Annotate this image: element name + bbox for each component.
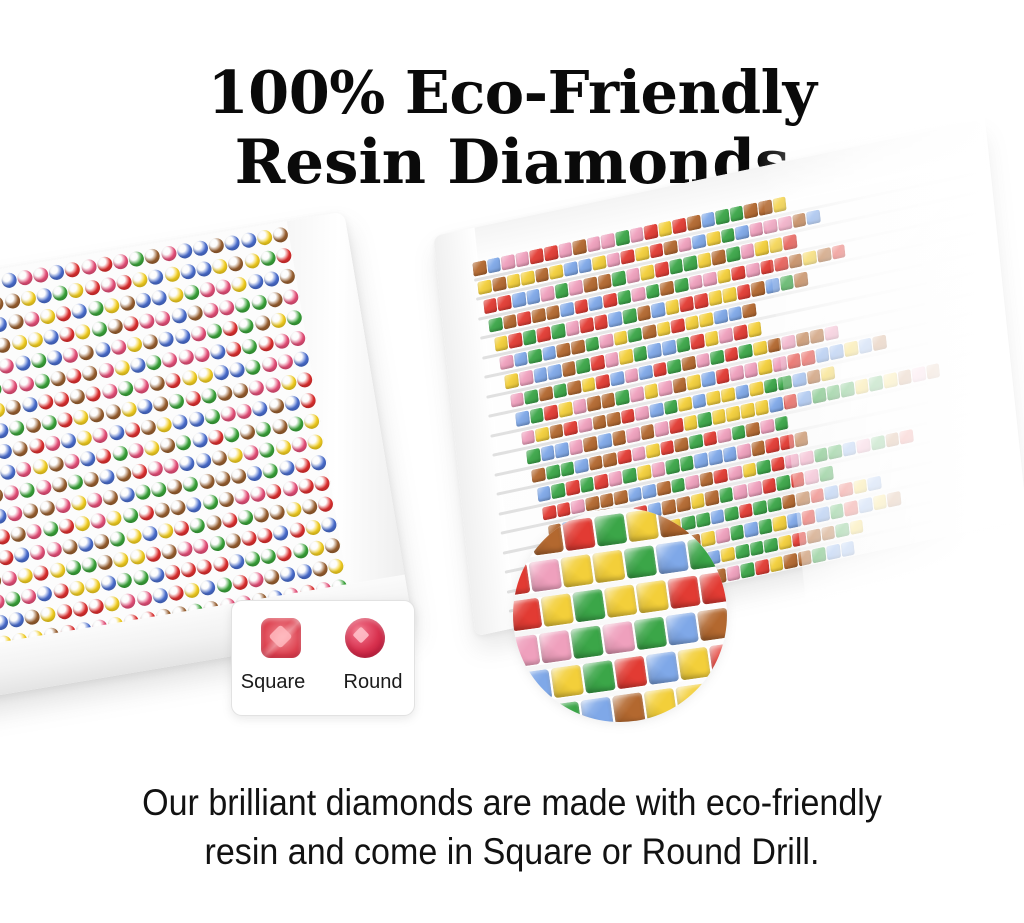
round-bead [239,423,256,440]
square-drill [779,434,794,450]
square-drill [540,445,555,461]
square-drill [570,339,585,355]
round-bead [274,439,291,456]
round-bead [255,421,272,438]
round-bead [241,338,258,355]
square-drill [683,255,698,271]
round-bead [164,564,181,581]
square-drill [569,279,584,295]
round-bead [19,482,36,499]
round-bead [289,330,306,347]
round-bead [101,383,118,400]
square-drill [565,479,580,495]
round-bead [60,432,77,449]
square-drill [645,283,660,299]
square-drill [635,405,650,421]
round-bead [84,577,101,594]
square-drill [612,430,627,446]
round-bead [188,220,205,236]
square-drill [608,470,623,486]
round-bead [159,437,176,454]
round-bead [200,387,217,404]
square-drill [681,355,696,371]
square-drill [762,478,777,494]
square-drill [772,356,787,372]
round-bead [144,248,161,265]
square-drill [755,559,770,575]
square-drill [803,250,818,266]
round-bead [142,333,159,350]
magnifier-inset [513,508,727,722]
magnified-square-drill [687,536,721,570]
round-bead [352,220,354,230]
square-drill [794,431,809,447]
square-drill [729,365,744,381]
magnified-square-drill [635,580,669,614]
round-bead [240,530,257,547]
square-drill [885,431,900,447]
round-bead [252,220,269,225]
square-drill [604,352,619,368]
square-drill [503,313,518,329]
square-drill [542,345,557,361]
square-drill [749,221,764,237]
round-bead [296,371,313,388]
round-bead [113,359,130,376]
square-drill [736,284,751,300]
round-bead [88,406,105,423]
square-drill [551,323,566,339]
round-bead [136,398,153,415]
round-bead [48,264,65,281]
square-drill [549,423,564,439]
round-bead [12,440,29,457]
square-drill [531,467,546,483]
square-drill [764,537,779,553]
magnified-square-drill [697,607,727,641]
square-drill [590,355,605,371]
round-bead [93,533,110,550]
square-gem-icon [261,618,301,658]
round-bead [17,567,34,584]
square-drill [810,487,825,503]
round-bead [148,566,165,583]
round-bead [224,532,241,549]
square-drill [597,273,612,289]
square-drill [899,428,914,444]
square-drill [615,389,630,405]
round-bead [20,588,37,605]
round-bead [16,269,33,286]
round-bead [29,544,46,561]
square-drill [821,525,836,541]
square-drill [685,314,700,330]
square-drill [767,496,782,512]
square-drill [690,493,705,509]
round-bead [163,266,180,283]
round-bead [49,370,66,387]
round-bead [234,296,251,313]
square-drill [751,281,766,297]
round-bead [231,574,248,591]
square-drill [547,364,562,380]
round-bead [192,538,209,555]
square-drill [522,329,537,345]
square-drill [669,418,684,434]
square-drill [738,502,753,518]
round-bead [13,546,30,563]
square-drill [551,482,566,498]
round-bead [15,461,32,478]
round-bead [11,334,28,351]
round-bead [109,530,126,547]
square-drill [858,337,873,353]
round-bead [125,528,142,545]
square-drill [831,244,846,260]
square-drill [849,519,864,535]
square-drill [649,402,664,418]
round-bead [188,411,205,428]
round-bead [68,580,85,597]
round-bead [70,494,87,511]
square-drill [622,308,637,324]
round-bead [221,512,238,529]
round-bead [119,592,136,609]
square-drill [635,245,650,261]
magnified-square-drill [548,701,582,722]
round-bead [304,519,321,536]
round-bead [63,453,80,470]
round-bead [186,496,203,513]
round-bead [217,491,234,508]
round-bead [320,516,337,533]
round-bead [293,351,310,368]
square-drill [686,214,701,230]
round-bead [272,226,289,243]
square-drill [749,381,764,397]
round-bead [106,510,123,527]
square-drill [588,455,603,471]
round-bead [81,365,98,382]
square-drill [747,321,762,337]
square-drill [701,211,716,227]
round-bead [215,278,232,295]
square-drill [774,256,789,272]
round-bead [140,227,157,244]
square-drill [701,371,716,387]
square-drill [771,456,786,472]
square-drill [663,239,678,255]
round-bead [134,484,151,501]
square-drill [819,465,834,481]
round-bead [33,564,50,581]
round-bead [184,390,201,407]
round-bead [129,357,146,374]
round-bead [7,313,24,330]
round-bead [172,413,189,430]
round-bead [236,403,253,420]
square-drill [760,259,775,275]
square-drill [685,474,700,490]
square-drill [912,366,927,382]
square-drill [586,236,601,252]
round-bead [116,572,133,589]
square-drill [506,273,521,289]
round-bead [93,235,110,252]
magnified-square-drill [562,517,596,551]
round-bead [52,284,69,301]
square-drill [703,271,718,287]
square-drill [781,493,796,509]
square-drill [579,317,594,333]
legend-label-round: Round [336,671,410,694]
round-bead [311,560,328,577]
square-drill [597,433,612,449]
square-drill [583,436,598,452]
magnified-square-drill [614,656,648,690]
round-bead [256,229,273,246]
round-bead [21,396,38,413]
round-bead [45,541,62,558]
square-drill [662,339,677,355]
round-bead [56,603,73,620]
round-bead [273,333,290,350]
square-drill [521,429,536,445]
caption-line-2: resin and come in Square or Round Drill. [41,827,983,876]
square-drill [767,337,782,353]
square-drill [724,346,739,362]
square-drill [642,483,657,499]
round-bead [317,496,334,513]
round-bead [249,486,266,503]
square-drill [872,494,887,510]
round-bead [124,421,141,438]
magnified-square-drill [513,526,532,560]
square-drill [704,330,719,346]
square-drill [508,332,523,348]
square-drill [806,528,821,544]
round-bead [197,367,214,384]
round-bead [129,548,146,565]
square-drill [844,341,859,357]
round-bead [81,556,98,573]
square-drill [812,547,827,563]
square-drill [769,237,784,253]
round-bead [279,268,296,285]
round-bead [248,379,265,396]
round-bead [0,528,11,545]
round-bead [72,409,89,426]
square-drill [806,209,821,225]
round-bead [20,290,37,307]
square-drill [580,476,595,492]
round-bead [306,433,323,450]
square-drill [596,373,611,389]
square-drill [769,396,784,412]
square-drill [613,489,628,505]
round-bead [67,282,84,299]
square-drill [792,212,807,228]
round-bead [195,260,212,277]
square-drill [629,227,644,243]
round-bead [5,399,22,416]
square-drill [778,374,793,390]
round-bead [118,486,135,503]
square-drill [719,327,734,343]
round-bead [62,347,79,364]
round-bead [247,571,264,588]
round-bead [161,351,178,368]
square-drill [747,481,762,497]
round-bead [292,542,309,559]
square-drill [777,215,792,231]
round-bead [0,337,12,354]
round-bead [103,297,120,314]
square-drill [678,396,693,412]
square-drill [599,492,614,508]
round-bead [204,408,221,425]
square-drill [753,499,768,515]
square-drill [678,236,693,252]
square-drill [754,399,769,415]
round-bead [301,498,318,515]
round-bead [213,364,230,381]
square-drill [515,410,530,426]
caption-line-1: Our brilliant diamonds are made with eco… [41,778,983,827]
magnified-square-drill [707,679,727,713]
square-drill [695,352,710,368]
square-drill [758,518,773,534]
square-drill [697,252,712,268]
square-drill [783,393,798,409]
round-bead [280,374,297,391]
round-bead [85,385,102,402]
round-bead [64,261,81,278]
square-drill [669,258,684,274]
magnified-square-drill [623,545,657,579]
square-drill [601,233,616,249]
magnified-square-drill [604,584,638,618]
round-bead [0,295,5,312]
round-bead [40,414,57,431]
round-bead [131,271,148,288]
square-drill [606,411,621,427]
round-bead [122,315,139,332]
round-bead [154,310,171,327]
square-drill [640,424,655,440]
round-bead [157,522,174,539]
square-drill [563,261,578,277]
square-drill [728,305,743,321]
magnified-square-drill [602,621,636,655]
round-bead [37,393,54,410]
square-drill [626,427,641,443]
round-bead [266,291,283,308]
round-bead [263,568,280,585]
square-drill [746,421,761,437]
round-bead [17,375,34,392]
square-drill [744,521,759,537]
round-bead [151,289,168,306]
round-bead [204,220,221,233]
square-drill [601,392,616,408]
round-bead [270,312,287,329]
square-drill [744,362,759,378]
round-bead [218,299,235,316]
round-bead [30,352,47,369]
square-drill [613,330,628,346]
square-drill [740,562,755,578]
square-drill [517,310,532,326]
round-bead [97,362,114,379]
round-bead [90,321,107,338]
round-bead [128,250,145,267]
square-drill [574,298,589,314]
round-bead [208,237,225,254]
round-bead [78,344,95,361]
magnified-square-drill [550,664,584,698]
round-bead [240,232,257,249]
square-drill [537,486,552,502]
square-drill [774,415,789,431]
round-bead [0,357,15,374]
round-bead [3,484,20,501]
round-bead [222,320,239,337]
square-drill [581,376,596,392]
round-bead [172,222,189,239]
round-bead [8,419,25,436]
round-bead [277,353,294,370]
square-drill [740,402,755,418]
square-drill [721,387,736,403]
round-bead [288,522,305,539]
square-drill [492,276,507,292]
round-bead [53,391,70,408]
square-drill [637,305,652,321]
round-bead [74,515,91,532]
square-drill [829,344,844,360]
square-drill [513,351,528,367]
round-bead [209,343,226,360]
square-drill [713,308,728,324]
round-bead [22,502,39,519]
square-drill [726,246,741,262]
round-bead [138,312,155,329]
square-drill [812,387,827,403]
square-drill [779,274,794,290]
square-drill [603,452,618,468]
round-bead [278,459,295,476]
round-bead [282,288,299,305]
square-drill [535,267,550,283]
square-drill [763,218,778,234]
round-bead [199,579,216,596]
square-drill [692,233,707,249]
round-bead [104,595,121,612]
round-bead [262,462,279,479]
square-drill [617,449,632,465]
square-drill [699,311,714,327]
round-bead [126,336,143,353]
round-bead [182,476,199,493]
square-drill [478,279,493,295]
round-bead [156,416,173,433]
square-drill [672,377,687,393]
square-drill [501,254,516,270]
square-drill [560,461,575,477]
round-bead [97,554,114,571]
square-drill [815,347,830,363]
